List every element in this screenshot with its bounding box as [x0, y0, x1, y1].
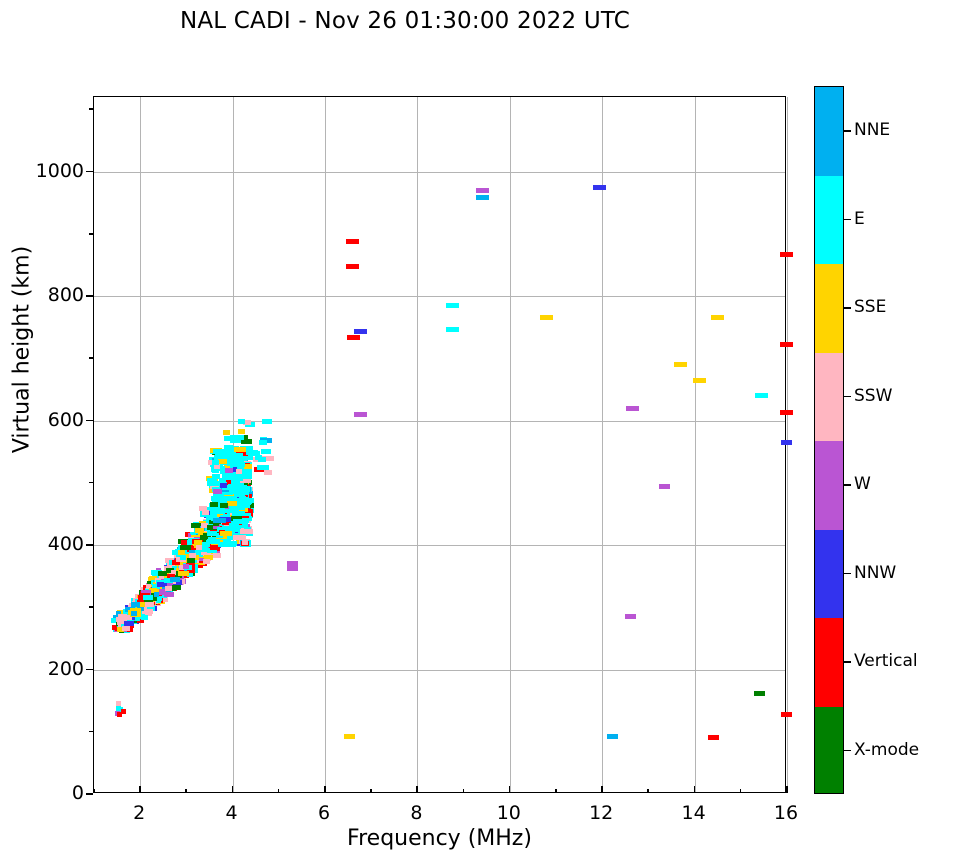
colorbar-ticks [844, 86, 854, 794]
colorbar-segment-x-mode [815, 707, 843, 795]
data-point [158, 571, 167, 576]
colorbar-label-nne: NNE [854, 120, 890, 140]
colorbar-label-sse: SSE [854, 297, 886, 317]
x-tick-minor [463, 789, 465, 793]
data-point [220, 503, 228, 508]
data-point [233, 535, 246, 540]
x-tick-label: 10 [497, 802, 521, 824]
y-tick-label: 800 [48, 284, 84, 306]
y-tick-minor [89, 482, 93, 484]
plot-area [93, 96, 786, 793]
data-point [195, 528, 204, 533]
x-tick-minor [740, 789, 742, 793]
y-tick-label: 200 [48, 658, 84, 680]
colorbar-tick [844, 750, 851, 752]
data-point [172, 585, 181, 590]
data-point [220, 531, 232, 536]
y-tick-label: 400 [48, 533, 84, 555]
x-tick [601, 786, 603, 793]
colorbar-tick [844, 219, 851, 221]
data-point [143, 595, 153, 600]
data-point [131, 611, 137, 616]
colorbar-tick [844, 573, 851, 575]
colorbar-segment-nnw [815, 530, 843, 619]
data-point [446, 327, 459, 332]
colorbar-tick [844, 484, 851, 486]
colorbar-label-vertical: Vertical [854, 651, 918, 671]
x-tick-minor [93, 789, 95, 793]
y-axis-title: Virtual height (km) [10, 240, 35, 460]
data-point [242, 518, 249, 523]
y-tick-minor [89, 357, 93, 359]
x-tick-minor [185, 789, 187, 793]
y-tick-label: 0 [72, 782, 84, 804]
data-point [625, 614, 636, 619]
data-point [227, 485, 233, 490]
x-tick-label: 8 [410, 802, 422, 824]
y-axis-ticks [93, 96, 103, 793]
data-point [194, 540, 202, 545]
x-tick-label: 12 [589, 802, 613, 824]
data-point [607, 734, 618, 739]
data-point [626, 406, 639, 411]
data-point [258, 457, 266, 462]
data-point [242, 540, 248, 545]
data-point [181, 540, 187, 545]
colorbar-tick [844, 396, 851, 398]
colorbar-labels: NNEESSESSWWNNWVerticalX-mode [854, 86, 954, 794]
data-point [212, 460, 219, 465]
data-point [118, 614, 127, 619]
x-tick [786, 786, 788, 793]
y-tick [86, 793, 93, 795]
y-tick-minor [89, 233, 93, 235]
x-tick [324, 786, 326, 793]
ionogram-figure: NAL CADI - Nov 26 01:30:00 2022 UTC 0200… [0, 0, 958, 857]
x-tick-minor [278, 789, 280, 793]
colorbar-segment-nne [815, 87, 843, 176]
data-points-layer [94, 97, 785, 792]
x-tick [139, 786, 141, 793]
data-point [476, 195, 489, 200]
y-tick [86, 171, 93, 173]
data-point [264, 470, 272, 475]
y-tick-minor [89, 606, 93, 608]
x-tick [509, 786, 511, 793]
data-point [131, 602, 140, 607]
data-point [210, 545, 218, 550]
data-point [122, 626, 130, 631]
page-title: NAL CADI - Nov 26 01:30:00 2022 UTC [0, 8, 810, 34]
colorbar-segment-sse [815, 264, 843, 353]
x-tick [416, 786, 418, 793]
x-axis-title: Frequency (MHz) [93, 826, 786, 851]
data-point [711, 315, 724, 320]
colorbar-segment-ssw [815, 353, 843, 442]
data-point [540, 315, 553, 320]
data-point [203, 559, 210, 564]
data-point [262, 419, 272, 424]
colorbar-segment-e [815, 176, 843, 265]
data-point [780, 410, 793, 415]
data-point [240, 529, 253, 534]
data-point [234, 462, 245, 467]
data-point [354, 329, 367, 334]
colorbar-tick [844, 661, 851, 663]
data-point [225, 468, 233, 473]
data-point [218, 542, 229, 547]
data-point [261, 449, 271, 454]
data-point [213, 518, 226, 523]
data-point [259, 440, 267, 445]
colorbar-segment-w [815, 441, 843, 530]
data-point [780, 342, 793, 347]
data-point [196, 545, 202, 550]
data-point [708, 735, 719, 740]
data-point [346, 264, 359, 269]
data-point [780, 252, 793, 257]
data-point [223, 430, 230, 435]
data-point [754, 691, 765, 696]
data-point [238, 429, 245, 434]
y-tick-minor [89, 731, 93, 733]
data-point [236, 469, 242, 474]
data-point [287, 566, 298, 571]
data-point [216, 509, 223, 514]
colorbar-segment-vertical [815, 618, 843, 707]
x-tick [232, 786, 234, 793]
data-point [242, 523, 248, 528]
x-tick-label: 14 [682, 802, 706, 824]
colorbar-label-ssw: SSW [854, 386, 892, 406]
data-point [781, 712, 792, 717]
colorbar-label-x-mode: X-mode [854, 740, 919, 760]
data-point [239, 499, 252, 504]
data-point [207, 531, 217, 536]
x-tick-label: 2 [133, 802, 145, 824]
data-point [170, 577, 180, 582]
data-point [227, 461, 233, 466]
data-point [659, 484, 670, 489]
x-tick-minor [370, 789, 372, 793]
colorbar-label-nnw: NNW [854, 563, 896, 583]
data-point [224, 450, 231, 455]
x-tick-label: 6 [318, 802, 330, 824]
y-tick [86, 420, 93, 422]
data-point [178, 571, 189, 576]
data-point [141, 615, 148, 620]
data-point [213, 489, 222, 494]
colorbar [814, 86, 844, 794]
data-point [244, 486, 250, 491]
data-point [476, 188, 489, 193]
colorbar-label-w: W [854, 474, 871, 494]
data-point [183, 564, 189, 569]
data-point [230, 435, 239, 440]
data-point [165, 586, 172, 591]
data-point [693, 378, 706, 383]
data-point [674, 362, 687, 367]
data-point [154, 592, 159, 597]
colorbar-tick [844, 130, 851, 132]
data-point [220, 483, 227, 488]
x-tick-label: 16 [774, 802, 798, 824]
y-tick-label: 600 [48, 409, 84, 431]
data-point [180, 555, 186, 560]
data-point [164, 592, 174, 597]
data-point [446, 303, 459, 308]
y-tick-minor [89, 108, 93, 110]
data-point [755, 393, 768, 398]
data-point [236, 476, 243, 481]
data-point [201, 547, 208, 552]
data-point [210, 502, 218, 507]
x-tick [694, 786, 696, 793]
y-tick [86, 669, 93, 671]
data-point [140, 602, 145, 607]
data-point [344, 734, 355, 739]
data-point [178, 550, 185, 555]
data-point [781, 440, 792, 445]
x-tick-minor [555, 789, 557, 793]
data-point [593, 185, 606, 190]
data-point [347, 335, 360, 340]
colorbar-label-e: E [854, 209, 865, 229]
data-point [189, 553, 196, 558]
data-point [117, 712, 122, 717]
data-point [354, 412, 367, 417]
data-point [187, 558, 195, 563]
data-point [246, 450, 258, 455]
y-tick [86, 544, 93, 546]
x-tick-label: 4 [226, 802, 238, 824]
x-tick-minor [647, 789, 649, 793]
data-point [238, 419, 245, 424]
y-tick-label: 1000 [36, 160, 84, 182]
data-point [241, 474, 252, 479]
data-point [346, 239, 359, 244]
data-point [234, 447, 246, 452]
x-axis-tick-labels: 246810121416 [93, 802, 786, 828]
colorbar-tick [844, 307, 851, 309]
y-tick [86, 295, 93, 297]
